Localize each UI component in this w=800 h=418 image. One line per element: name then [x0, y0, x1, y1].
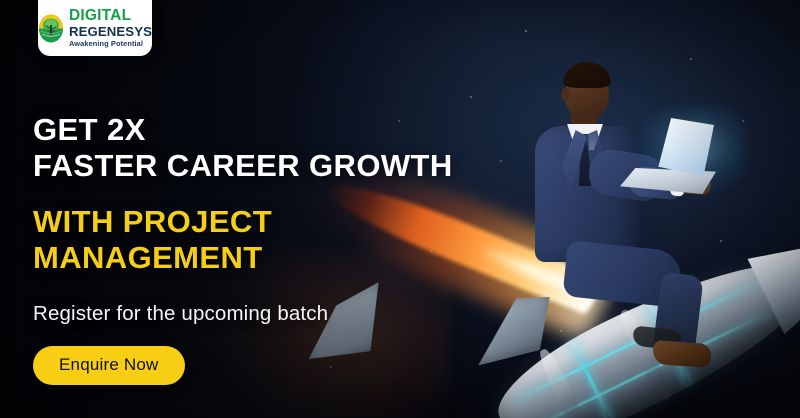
subheadline: Register for the upcoming batch	[33, 302, 503, 326]
enquire-now-button[interactable]: Enquire Now	[33, 346, 185, 385]
accent-line-2: MANAGEMENT	[33, 240, 503, 276]
logo-tagline: Awakening Potential	[69, 40, 152, 47]
subheadline-block: Register for the upcoming batch	[33, 302, 503, 326]
copy-block: GET 2X FASTER CAREER GROWTH WITH PROJECT…	[33, 112, 503, 385]
headline-line-2: FASTER CAREER GROWTH	[33, 148, 503, 184]
logo-word-regenesys: REGENESYS	[69, 25, 152, 38]
logo-word-digital: DIGITAL	[69, 8, 152, 24]
promo-banner: DIGITAL REGENESYS Awakening Potential GE…	[0, 0, 800, 418]
tree-emblem-icon	[38, 14, 64, 43]
accent-headline: WITH PROJECT MANAGEMENT	[33, 204, 503, 276]
brand-logo[interactable]: DIGITAL REGENESYS Awakening Potential	[38, 0, 152, 56]
accent-line-1: WITH PROJECT	[33, 204, 503, 240]
headline-line-1: GET 2X	[33, 112, 503, 148]
